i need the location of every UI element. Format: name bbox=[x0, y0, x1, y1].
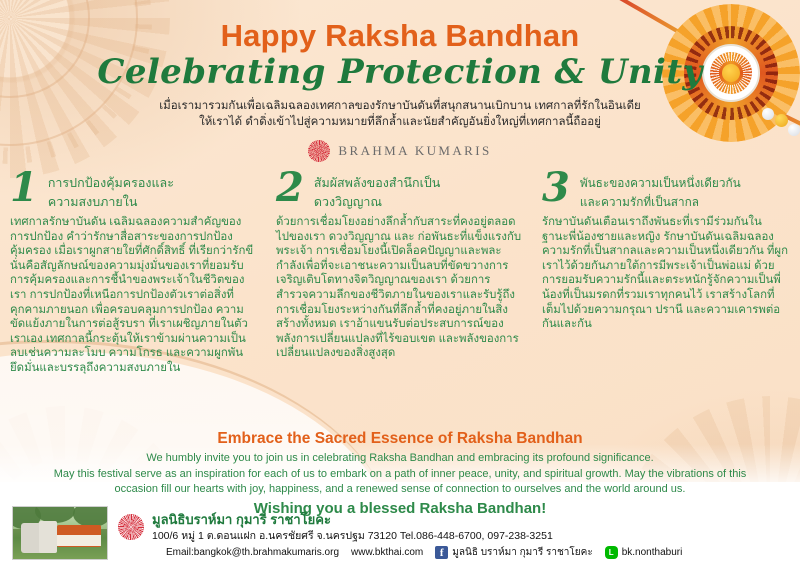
column-2-heading: สัมผัสพลังของสำนึกเป็น ดวงวิญญาณ bbox=[314, 170, 441, 212]
column-3-heading: พันธะของความเป็นหนึ่งเดียวกัน และความรัก… bbox=[580, 170, 741, 212]
photo-om-stone-right bbox=[39, 521, 57, 553]
column-2-header: 2 สัมผัสพลังของสำนึกเป็น ดวงวิญญาณ bbox=[276, 170, 522, 212]
intro-line-1: เมื่อเรามารวมกันเพื่อเฉลิมฉลองเทศกาลของร… bbox=[100, 98, 700, 114]
column-1-header: 1 การปกป้องคุ้มครองและ ความสงบภายใน bbox=[10, 170, 256, 212]
sunburst-icon bbox=[118, 514, 144, 540]
column-3-header: 3 พันธะของความเป็นหนึ่งเดียวกัน และความร… bbox=[542, 170, 788, 212]
footer-facebook-label: มูลนิธิ บราห์มา กุมารี ราชาโยคะ bbox=[452, 545, 592, 560]
footer-email[interactable]: Email:bangkok@th.brahmakumaris.org bbox=[166, 547, 339, 558]
three-column-section: 1 การปกป้องคุ้มครองและ ความสงบภายใน เทศก… bbox=[0, 170, 800, 425]
footer-address: 100/6 หมู่ 1 ต.ดอนแฝก อ.นครชัยศรี จ.นครป… bbox=[152, 527, 553, 544]
column-2-number: 2 bbox=[276, 170, 304, 206]
brand-name: Brahma Kumaris bbox=[338, 143, 491, 159]
column-2-body: ด้วยการเชื่อมโยงอย่างลึกล้ำกับสาระที่คงอ… bbox=[276, 215, 522, 361]
photo-signboard-text bbox=[57, 535, 101, 546]
intro-text: เมื่อเรามารวมกันเพื่อเฉลิมฉลองเทศกาลของร… bbox=[100, 98, 700, 130]
rakhi-bead-white-4 bbox=[788, 124, 800, 136]
closing-subtitle: We humbly invite you to join us in celeb… bbox=[0, 452, 800, 464]
footer-facebook[interactable]: f มูลนิธิ บราห์มา กุมารี ราชาโยคะ bbox=[435, 545, 592, 560]
poster-canvas: Happy Raksha Bandhan Celebrating Protect… bbox=[0, 0, 800, 566]
column-1: 1 การปกป้องคุ้มครองและ ความสงบภายใน เทศก… bbox=[0, 170, 266, 425]
closing-title: Embrace the Sacred Essence of Raksha Ban… bbox=[0, 430, 800, 448]
footer-contact-row: Email:bangkok@th.brahmakumaris.org www.b… bbox=[166, 545, 682, 560]
column-3: 3 พันธะของความเป็นหนึ่งเดียวกัน และความร… bbox=[532, 170, 798, 425]
brand-lockup: Brahma Kumaris bbox=[0, 140, 800, 162]
intro-line-2: ให้เราได้ ดำดิ่งเข้าไปสู่ความหมายที่ลึกล… bbox=[100, 114, 700, 130]
footer-line-label: bk.nonthaburi bbox=[622, 547, 683, 558]
facebook-icon: f bbox=[435, 546, 448, 559]
page-title: Happy Raksha Bandhan bbox=[0, 18, 800, 54]
page-subtitle: Celebrating Protection & Unity bbox=[0, 52, 800, 92]
footer: มูลนิธิบราห์มา กุมารี ราชาโยคะ 100/6 หมู… bbox=[0, 500, 800, 566]
footer-line[interactable]: L bk.nonthaburi bbox=[605, 546, 683, 559]
column-3-body: รักษาบันดันเตือนเราถึงพันธะที่เรามีร่วมก… bbox=[542, 215, 788, 332]
footer-website[interactable]: www.bkthai.com bbox=[351, 547, 423, 558]
om-sweet-home-photo bbox=[12, 506, 108, 560]
column-1-body: เทศกาลรักษาบันดัน เฉลิมฉลองความสำคัญของก… bbox=[10, 215, 256, 376]
column-1-number: 1 bbox=[10, 170, 38, 206]
line-icon: L bbox=[605, 546, 618, 559]
closing-paragraph: May this festival serve as an inspiratio… bbox=[0, 467, 800, 496]
column-2: 2 สัมผัสพลังของสำนึกเป็น ดวงวิญญาณ ด้วยก… bbox=[266, 170, 532, 425]
column-1-heading: การปกป้องคุ้มครองและ ความสงบภายใน bbox=[48, 170, 174, 212]
rakhi-bead-white-3 bbox=[762, 108, 774, 120]
rakhi-bead-yellow-2 bbox=[775, 114, 788, 127]
sunburst-icon bbox=[308, 140, 330, 162]
column-3-number: 3 bbox=[542, 170, 570, 206]
